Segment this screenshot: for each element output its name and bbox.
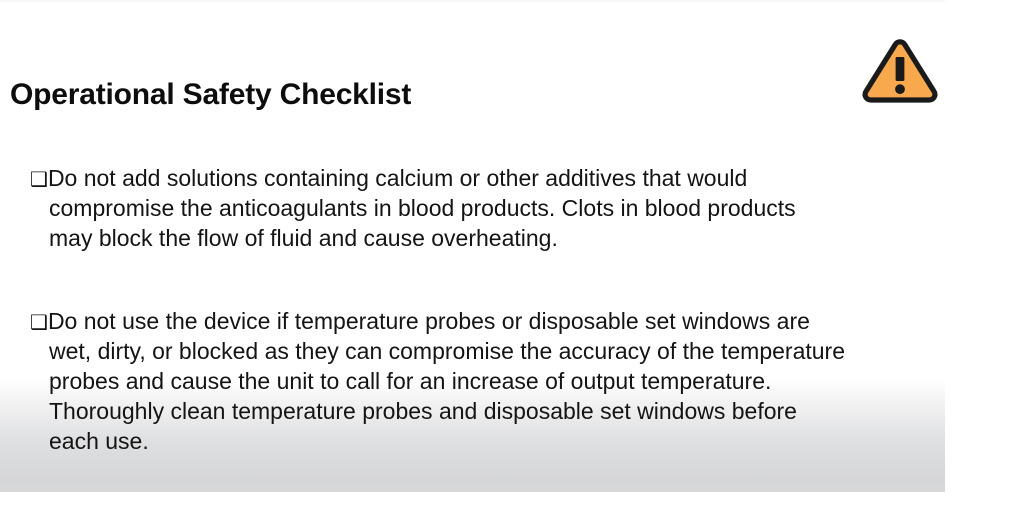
list-item-text: Do not use the device if temperature pro…	[48, 308, 810, 334]
slide-content-area: Operational Safety Checklist ❑Do not add…	[0, 0, 945, 492]
slide-canvas: Operational Safety Checklist ❑Do not add…	[0, 0, 1024, 506]
list-item: ❑Do not use the device if temperature pr…	[30, 306, 945, 456]
page-title: Operational Safety Checklist	[10, 77, 411, 113]
warning-triangle-icon	[861, 39, 939, 103]
checkbox-bullet-icon: ❑	[30, 310, 48, 334]
slide-top-rule	[0, 0, 945, 3]
list-item-text: Do not add solutions containing calcium …	[48, 165, 747, 191]
list-item-line: may block the flow of fluid and cause ov…	[30, 223, 945, 253]
list-item-line: ❑Do not add solutions containing calcium…	[30, 163, 945, 193]
list-item-line: ❑Do not use the device if temperature pr…	[30, 306, 945, 336]
list-item: ❑Do not add solutions containing calcium…	[30, 163, 945, 253]
list-item-line: each use.	[30, 426, 945, 456]
checkbox-bullet-icon: ❑	[30, 167, 48, 191]
list-item-line: wet, dirty, or blocked as they can compr…	[30, 336, 945, 366]
list-item-line: probes and cause the unit to call for an…	[30, 366, 945, 396]
list-item-line: compromise the anticoagulants in blood p…	[30, 193, 945, 223]
list-item-line: Thoroughly clean temperature probes and …	[30, 396, 945, 426]
